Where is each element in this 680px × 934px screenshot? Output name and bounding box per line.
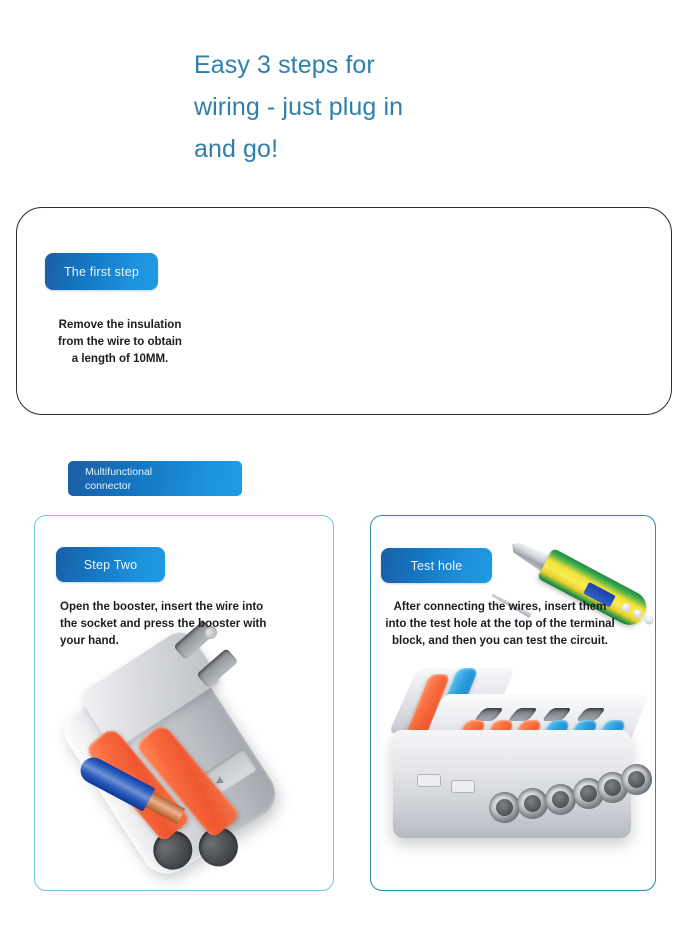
wire-hole: [621, 764, 652, 795]
test-hole-caption-line-2: into the test hole at the top of the ter…: [380, 616, 620, 633]
multi-port-connector-image: [393, 694, 639, 854]
multifunctional-connector-tag: Multifunctional connector: [68, 461, 242, 496]
tag-line-2: connector: [85, 479, 242, 493]
test-hole-badge-label: Test hole: [411, 559, 463, 573]
side-window: [451, 780, 475, 793]
wire-hole: [545, 784, 576, 815]
step-two-caption-line-1: Open the booster, insert the wire into: [60, 599, 275, 616]
page-title: Easy 3 steps for wiring - just plug in a…: [194, 44, 494, 170]
connector-front-face: [393, 730, 631, 838]
page-title-line-1: Easy 3 steps for: [194, 44, 494, 86]
wire-hole: [489, 792, 520, 823]
step-two-caption-line-3: your hand.: [60, 633, 275, 650]
step-one-caption-line-3: a length of 10MM.: [45, 351, 195, 368]
test-slot: [196, 648, 238, 688]
step-two-badge-label: Step Two: [84, 558, 138, 572]
step-one-caption: Remove the insulation from the wire to o…: [45, 317, 195, 368]
wire-hole: [517, 788, 548, 819]
page-title-line-2: wiring - just plug in: [194, 86, 494, 128]
test-hole-caption-line-1: After connecting the wires, insert them: [380, 599, 620, 616]
step-one-panel: [16, 207, 672, 415]
test-hole-caption-line-3: block, and then you can test the circuit…: [380, 633, 620, 650]
step-two-badge: Step Two: [56, 547, 165, 582]
indicator-light: [631, 608, 643, 620]
indicator-light: [620, 602, 632, 614]
test-hole-badge: Test hole: [381, 548, 492, 583]
step-two-caption: Open the booster, insert the wire into t…: [60, 599, 275, 650]
tag-line-1: Multifunctional: [85, 465, 242, 479]
test-hole-caption: After connecting the wires, insert them …: [380, 599, 620, 650]
step-two-caption-line-2: the socket and press the booster with: [60, 616, 275, 633]
side-window: [417, 774, 441, 787]
step-one-caption-line-1: Remove the insulation: [45, 317, 195, 334]
page-title-line-3: and go!: [194, 128, 494, 170]
step-one-badge: The first step: [45, 253, 158, 290]
indicator-light: [643, 614, 655, 626]
step-one-caption-line-2: from the wire to obtain: [45, 334, 195, 351]
step-one-badge-label: The first step: [64, 265, 139, 279]
